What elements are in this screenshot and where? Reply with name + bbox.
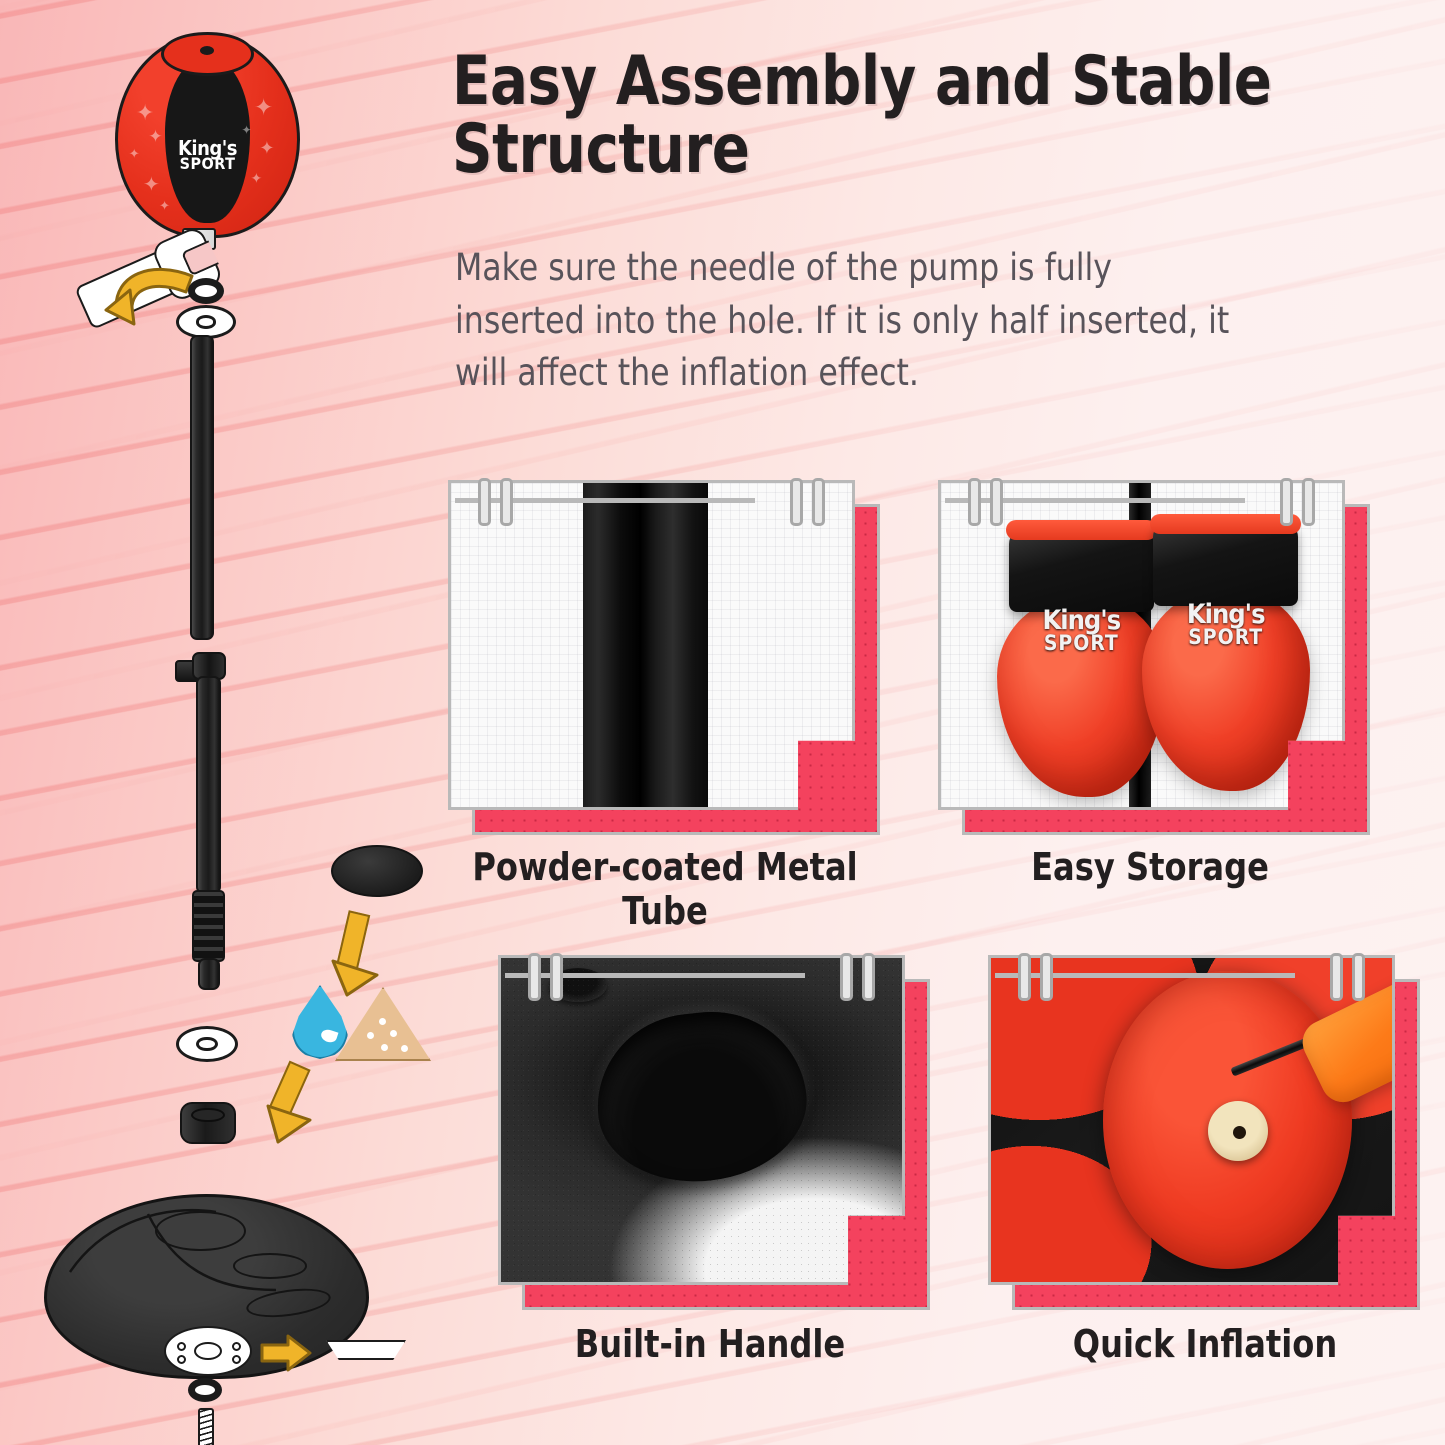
glove-cuff (1153, 521, 1298, 605)
star-icon: ✦ (250, 171, 262, 185)
glove-brand-line2: SPORT (997, 634, 1165, 653)
o-ring (188, 278, 224, 304)
card4-clip-left-a[interactable] (1018, 953, 1031, 1001)
plate-screw-hole (177, 1342, 186, 1351)
end-cap (331, 845, 423, 897)
card4-clip-right-a[interactable] (1330, 953, 1343, 1001)
brand-line2: SPORT (118, 157, 297, 171)
inflation-ball-image (991, 958, 1392, 1282)
card2-clip-left-a[interactable] (968, 478, 981, 526)
card1-clip-left-a[interactable] (478, 478, 491, 526)
card4-clip-left-b[interactable] (1040, 953, 1053, 1001)
card3-clip-right-b[interactable] (862, 953, 875, 1001)
plate-screw-hole (177, 1355, 186, 1364)
card-photo-quick-inflation (988, 955, 1395, 1285)
plate-center-hole (194, 1342, 223, 1360)
card2-clip-right-b[interactable] (1302, 478, 1315, 526)
card3-clip-left-b[interactable] (550, 953, 563, 1001)
plate-profile (326, 1340, 406, 1360)
sand-speck (381, 1044, 388, 1051)
metal-tube-image (583, 480, 707, 810)
star-icon: ✦ (159, 199, 170, 212)
card1-clip-right-b[interactable] (812, 478, 825, 526)
base-texture (501, 958, 902, 1282)
page-title: Easy Assembly and Stable Structure (452, 48, 1280, 184)
card3-clip-left-a[interactable] (528, 953, 541, 1001)
caption-built-in-handle: Built-in Handle (503, 1322, 917, 1366)
pole-lower-tip (198, 958, 220, 990)
sand-speck (401, 1045, 408, 1052)
locking-nut (180, 1102, 236, 1144)
sand-speck (390, 1030, 397, 1037)
card1-clip-right-a[interactable] (790, 478, 803, 526)
infographic-canvas: Easy Assembly and Stable Structure Make … (0, 0, 1445, 1445)
sand-speck (367, 1032, 374, 1039)
glove-brand-logo: King's SPORT (997, 609, 1165, 653)
card2-clip-left-b[interactable] (990, 478, 1003, 526)
boxing-glove-right: King's SPORT (1142, 519, 1310, 791)
card-photo-easy-storage: King's SPORT King's SPORT (938, 480, 1345, 810)
plate-profile-arrow-icon (258, 1332, 314, 1374)
glove-cuff (1009, 528, 1154, 612)
feature-card-quick-inflation[interactable] (988, 955, 1420, 1310)
upper-pole (190, 335, 214, 640)
fill-arrow-head-icon (325, 955, 385, 999)
card2-clip-right-a[interactable] (1280, 478, 1293, 526)
washer (176, 305, 236, 339)
feature-card-built-in-handle[interactable] (498, 955, 930, 1310)
caption-easy-storage: Easy Storage (943, 845, 1357, 889)
sand-speck (379, 1018, 386, 1025)
glove-brand-line2: SPORT (1142, 628, 1310, 647)
glove-cuff-band (1006, 520, 1157, 540)
handle-base-image (501, 958, 902, 1282)
boxing-glove-left: King's SPORT (997, 525, 1165, 797)
star-icon: ✦ (143, 175, 160, 195)
screw (188, 1408, 228, 1445)
feature-card-metal-tube[interactable] (448, 480, 880, 835)
star-icon: ✦ (136, 102, 154, 124)
star-icon: ✦ (242, 124, 252, 136)
punching-ball: ✦ ✦ ✦ ✦ ✦ ✦ ✦ ✦ ✦ King's SPORT (115, 33, 300, 238)
mounting-plate (164, 1326, 252, 1376)
lower-washer (176, 1026, 238, 1062)
plate-screw-hole (232, 1342, 241, 1351)
caption-metal-tube: Powder-coated Metal Tube (435, 845, 896, 933)
page-subtext: Make sure the needle of the pump is full… (455, 242, 1244, 400)
card1-clip-left-b[interactable] (500, 478, 513, 526)
corrugated-collar (192, 890, 225, 962)
star-icon: ✦ (254, 96, 273, 119)
base-fill-arrow-head-icon (258, 1102, 318, 1148)
card-photo-built-in-handle (498, 955, 905, 1285)
adjustable-pole (196, 676, 221, 894)
small-washer (188, 1378, 222, 1402)
card4-clip-right-b[interactable] (1352, 953, 1365, 1001)
glove-brand-logo: King's SPORT (1142, 603, 1310, 647)
plate-screw-hole (232, 1355, 241, 1364)
brand-logo: King's SPORT (118, 139, 297, 171)
card3-clip-right-a[interactable] (840, 953, 853, 1001)
inflation-valve (1208, 1101, 1268, 1161)
caption-quick-inflation: Quick Inflation (998, 1322, 1412, 1366)
screw-thread (198, 1408, 214, 1445)
feature-card-easy-storage[interactable]: King's SPORT King's SPORT (938, 480, 1370, 835)
glove-cuff-band (1150, 514, 1301, 534)
boxing-gloves-image: King's SPORT King's SPORT (941, 483, 1342, 807)
card-photo-metal-tube (448, 480, 855, 810)
